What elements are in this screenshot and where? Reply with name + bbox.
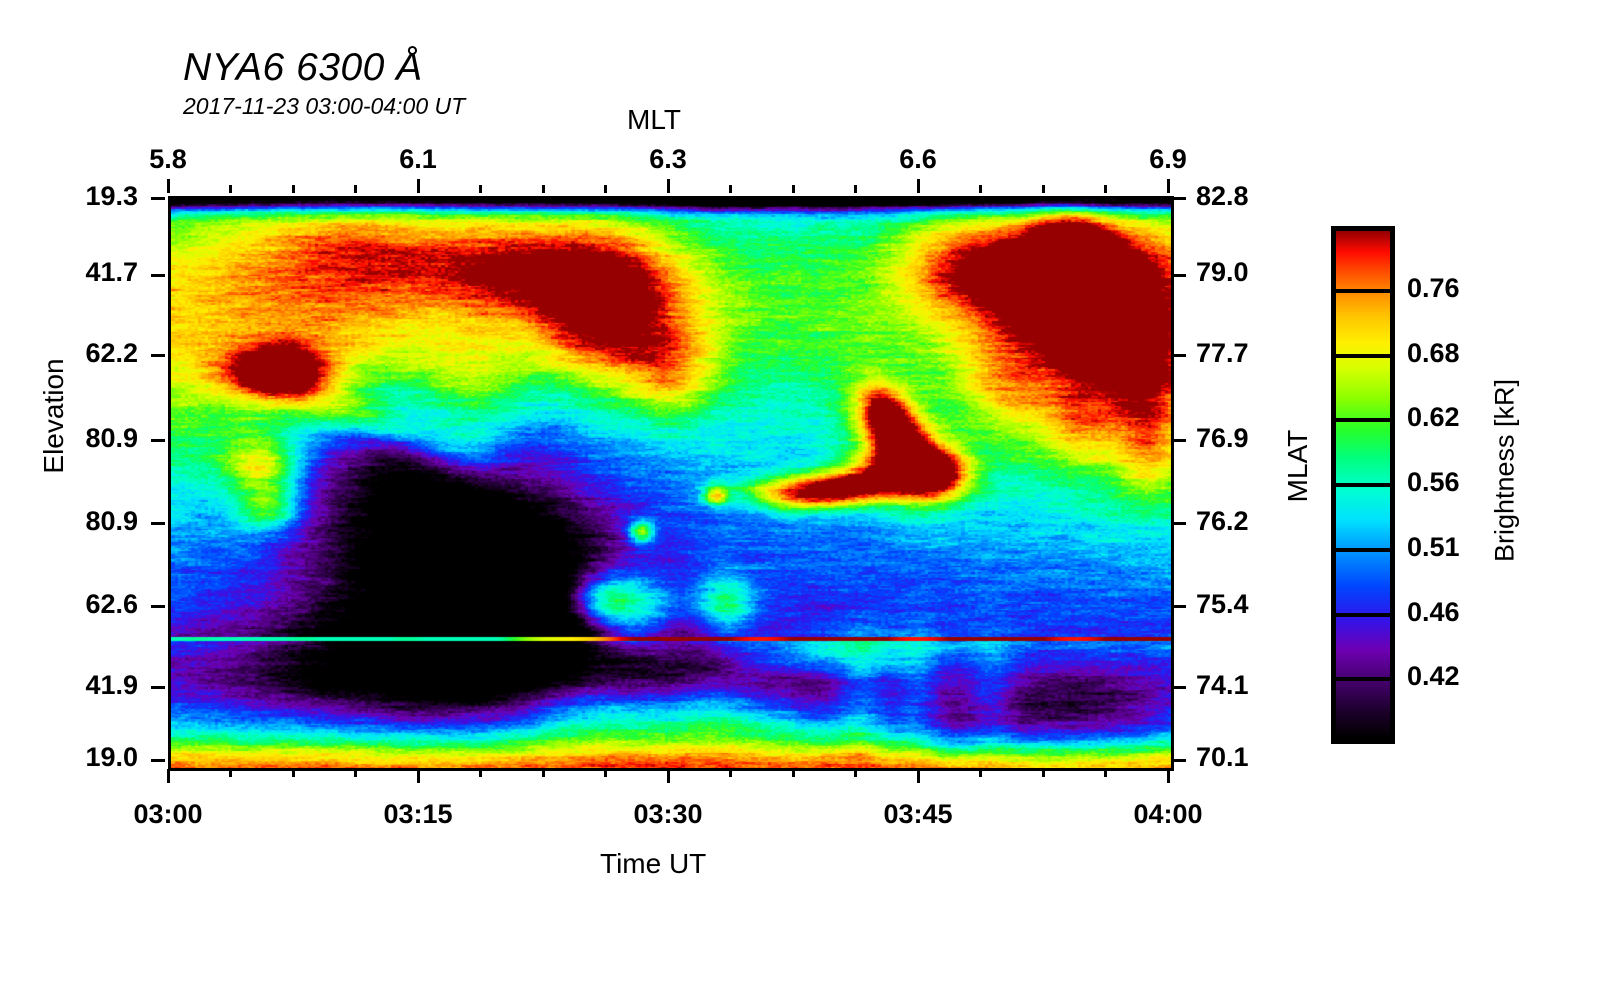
- x-tick-2: [667, 769, 670, 783]
- y-tick-right-5: [1172, 605, 1186, 608]
- x-tick-0: [167, 769, 170, 783]
- y-label-left-0: 19.3: [18, 181, 138, 212]
- y-tick-right-7: [1172, 759, 1186, 762]
- y-tick-right-3: [1172, 439, 1186, 442]
- x-label-2: 03:30: [598, 799, 738, 830]
- y-label-right-5: 75.4: [1196, 589, 1316, 620]
- x-label-0: 03:00: [98, 799, 238, 830]
- mlt-tick-minor-2-3: [854, 185, 857, 193]
- y-label-right-6: 74.1: [1196, 670, 1316, 701]
- y-tick-right-2: [1172, 354, 1186, 357]
- colorbar-label-5: 0.46: [1407, 597, 1527, 628]
- x-label-4: 04:00: [1098, 799, 1238, 830]
- mlt-tick-3: [917, 179, 920, 193]
- y-tick-right-6: [1172, 686, 1186, 689]
- x-label-3: 03:45: [848, 799, 988, 830]
- y-label-left-3: 80.9: [18, 423, 138, 454]
- mlt-tick-minor-0-3: [354, 185, 357, 193]
- y-label-left-7: 19.0: [18, 742, 138, 773]
- y-tick-left-3: [151, 439, 165, 442]
- y-label-left-2: 62.2: [18, 338, 138, 369]
- x-axis-title: Time UT: [600, 848, 706, 880]
- y-tick-left-0: [151, 197, 165, 200]
- keogram-image: [171, 199, 1171, 768]
- y-tick-right-0: [1172, 197, 1186, 200]
- mlt-tick-minor-3-2: [1042, 185, 1045, 193]
- colorbar: [1331, 226, 1395, 744]
- right-axis-title: MLAT: [1282, 396, 1314, 536]
- y-label-right-7: 70.1: [1196, 742, 1316, 773]
- y-label-left-1: 41.7: [18, 257, 138, 288]
- mlt-tick-minor-0-1: [229, 185, 232, 193]
- y-label-left-5: 62.6: [18, 589, 138, 620]
- mlt-label-2: 6.3: [608, 144, 728, 175]
- y-label-right-1: 79.0: [1196, 257, 1316, 288]
- colorbar-label-6: 0.42: [1407, 661, 1527, 692]
- mlt-tick-minor-2-2: [792, 185, 795, 193]
- mlt-tick-minor-1-1: [479, 185, 482, 193]
- colorbar-gradient: [1336, 231, 1390, 739]
- x-tick-4: [1167, 769, 1170, 783]
- y-tick-left-7: [151, 759, 165, 762]
- mlt-tick-2: [667, 179, 670, 193]
- mlt-tick-0: [167, 179, 170, 193]
- mlt-tick-minor-3-3: [1104, 185, 1107, 193]
- page-subtitle: 2017-11-23 03:00-04:00 UT: [183, 93, 465, 120]
- y-tick-left-2: [151, 354, 165, 357]
- colorbar-title: Brightness [kR]: [1490, 356, 1521, 586]
- mlt-tick-4: [1167, 179, 1170, 193]
- left-axis-title: Elevation: [38, 336, 70, 496]
- page-title: NYA6 6300 Å: [183, 46, 423, 90]
- y-tick-left-4: [151, 522, 165, 525]
- x-tick-3: [917, 769, 920, 783]
- mlt-label-0: 5.8: [108, 144, 228, 175]
- y-tick-right-1: [1172, 274, 1186, 277]
- y-label-right-2: 77.7: [1196, 338, 1316, 369]
- y-tick-right-4: [1172, 522, 1186, 525]
- mlt-tick-1: [417, 179, 420, 193]
- mlt-label-3: 6.6: [858, 144, 978, 175]
- mlt-label-4: 6.9: [1108, 144, 1228, 175]
- top-axis-title: MLT: [627, 104, 681, 136]
- mlt-tick-minor-1-2: [542, 185, 545, 193]
- colorbar-label-0: 0.76: [1407, 273, 1527, 304]
- mlt-tick-minor-0-2: [292, 185, 295, 193]
- y-tick-left-1: [151, 274, 165, 277]
- mlt-tick-minor-2-1: [729, 185, 732, 193]
- y-label-right-0: 82.8: [1196, 181, 1316, 212]
- y-tick-left-5: [151, 605, 165, 608]
- x-tick-1: [417, 769, 420, 783]
- mlt-label-1: 6.1: [358, 144, 478, 175]
- y-tick-left-6: [151, 686, 165, 689]
- mlt-tick-minor-3-1: [979, 185, 982, 193]
- y-label-left-4: 80.9: [18, 506, 138, 537]
- y-label-left-6: 41.9: [18, 670, 138, 701]
- x-label-1: 03:15: [348, 799, 488, 830]
- mlt-tick-minor-1-3: [604, 185, 607, 193]
- keogram-plot-area: [168, 196, 1174, 771]
